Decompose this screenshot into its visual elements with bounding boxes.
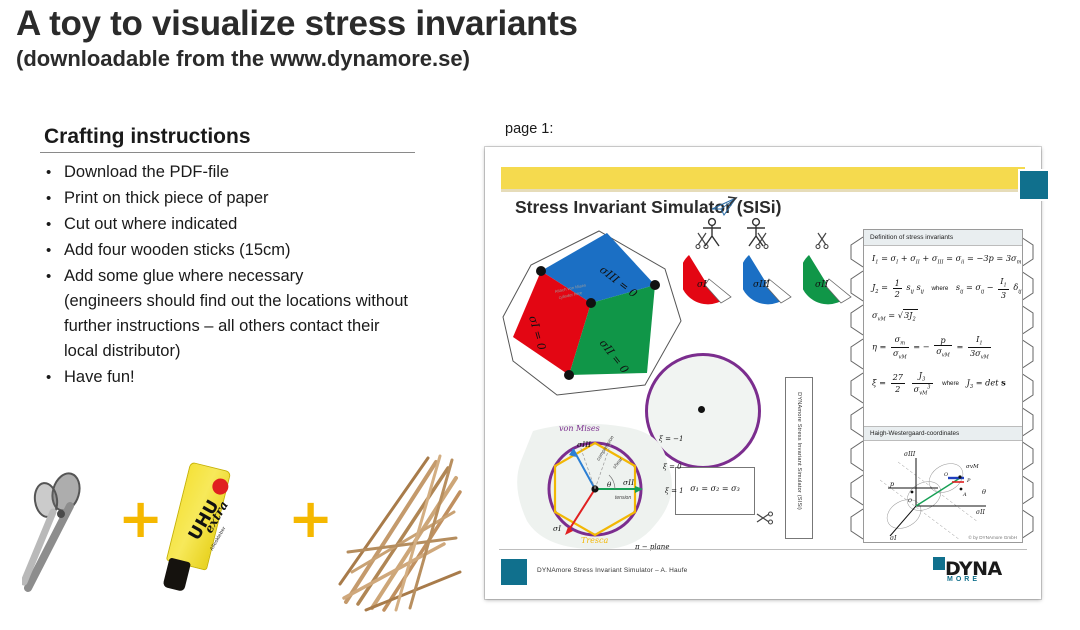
scissors-cut-icon xyxy=(815,231,829,249)
page-title: A toy to visualize stress invariants xyxy=(16,4,578,44)
von-mises-label: von Mises xyxy=(559,424,600,433)
pacman-label-blue: σ​III xyxy=(753,280,770,290)
cut-tabs-right xyxy=(1021,231,1039,541)
svg-text:O: O xyxy=(944,472,948,478)
logo-sub: MORE xyxy=(947,576,980,583)
bullet-continuation-line: (engineers should find out the locations… xyxy=(64,289,472,314)
where-label-2: where xyxy=(937,380,964,387)
plus-sign-2: + xyxy=(288,492,333,546)
document-title: Stress Invariant Simulator (SISi) xyxy=(515,197,781,218)
formula-i1: I1 = σI + σII + σIII = σii = −3p = 3σm xyxy=(872,252,1014,267)
axis-label-sigma3: σ​III xyxy=(577,440,592,449)
scissors-icon xyxy=(22,466,108,596)
haigh-westergaard-header: Haigh-Westergaard-coordinates xyxy=(864,426,1022,441)
list-item: Add four wooden sticks (15cm) xyxy=(42,238,472,263)
panel-copyright: © by DYNAmore GmbH xyxy=(968,535,1017,540)
stick-figure-icon xyxy=(699,217,725,247)
formula-svm: σvM = √3J2 xyxy=(872,309,1014,324)
xi-label-neg1: ξ = −1 xyxy=(659,435,684,443)
page-subtitle: (downloadable from the www.dynamore.se) xyxy=(16,46,470,72)
formula-panel-header: Definition of stress invariants xyxy=(864,230,1022,246)
heading-divider xyxy=(40,152,415,153)
tension-label: tension xyxy=(615,495,631,501)
vertical-title-strip: DYNAmore Stress Invariant Simulator (SIS… xyxy=(785,377,813,539)
svg-text:p: p xyxy=(890,480,895,488)
bullet-text: Download the PDF-file xyxy=(64,163,229,181)
banner-shadow xyxy=(501,189,1025,192)
svg-text:O: O xyxy=(908,498,912,504)
stick-figure-icon xyxy=(743,217,769,247)
formula-eta: η = σmσvM = − pσvM = I13σvM xyxy=(872,334,1014,361)
bullet-text: Have fun! xyxy=(64,368,135,386)
plus-sign-1: + xyxy=(118,492,163,546)
svg-text:σIII: σIII xyxy=(904,451,916,458)
glue-cap xyxy=(162,557,191,591)
svg-text:σI: σI xyxy=(890,535,897,540)
paper-plane-icon xyxy=(710,195,740,217)
list-item: Have fun! xyxy=(42,365,472,390)
svg-text:θ: θ xyxy=(982,488,986,496)
bullet-text: Add four wooden sticks (15cm) xyxy=(64,241,291,259)
wooden-sticks xyxy=(336,452,462,612)
footer-teal-square xyxy=(501,559,527,585)
svg-text:σII: σII xyxy=(976,509,985,516)
pi-plane-figure: von Mises Tresca σ​III σ​II σ​I θ compre… xyxy=(503,417,703,557)
bullet-text: Print on thick piece of paper xyxy=(64,189,269,207)
logo-mark xyxy=(933,557,945,570)
haigh-westergaard-diagram: σIII σII σI σvM p θ O P A O xyxy=(868,444,1018,540)
svg-text:σvM: σvM xyxy=(966,464,979,470)
bullet-text: Add some glue where necessary xyxy=(64,267,303,285)
slide-root: A toy to visualize stress invariants (do… xyxy=(0,0,1080,630)
bullet-text: Cut out where indicated xyxy=(64,215,237,233)
disc-center-dot xyxy=(698,406,705,413)
formula-panel: Definition of stress invariants I1 = σI … xyxy=(863,229,1023,543)
supplies-row: + UHU extra Alleskleber + xyxy=(18,450,458,625)
pacman-label-green: σ​II xyxy=(815,280,829,290)
glue-body: UHU extra Alleskleber xyxy=(166,462,231,571)
footer-divider xyxy=(499,549,1027,550)
bullet-continuation-line: local distributor) xyxy=(64,339,472,364)
where-label: where xyxy=(926,285,953,292)
dynamore-logo: DYNA MORE xyxy=(931,556,1027,586)
formula-xi: ξ = 272 J3σvM3 where J3 = det s xyxy=(872,370,1014,397)
svg-text:P: P xyxy=(966,478,971,484)
xi-label-1: ξ = 1 xyxy=(665,487,684,495)
list-item: Cut out where indicated xyxy=(42,212,472,237)
pacman-blue: σ​III xyxy=(743,251,799,309)
formula-j2: J2 = 12 sij sij where sij = σij − I13 δi… xyxy=(872,276,1014,300)
vertical-strip-label: DYNAmore Stress Invariant Simulator (SIS… xyxy=(796,371,802,531)
axis-label-sigma1: σ​I xyxy=(553,524,562,533)
pacman-label-red: σ​I xyxy=(697,280,707,290)
footer-text: DYNAmore Stress Invariant Simulator – A.… xyxy=(537,567,687,574)
list-item: Print on thick piece of paper xyxy=(42,186,472,211)
svg-text:A: A xyxy=(962,492,967,498)
formula-list: I1 = σI + σII + σIII = σii = −3p = 3σm J… xyxy=(872,252,1014,406)
instructions-list: Download the PDF-file Print on thick pie… xyxy=(42,160,472,391)
scissors-cut-icon xyxy=(755,511,773,525)
yellow-banner xyxy=(501,167,1025,189)
pacman-red: σ​I xyxy=(683,251,739,309)
list-item: Download the PDF-file xyxy=(42,160,472,185)
page-label: page 1: xyxy=(505,121,553,137)
crafting-instructions-heading: Crafting instructions xyxy=(44,125,251,149)
cut-tabs-left xyxy=(845,231,863,541)
tresca-label: Tresca xyxy=(581,536,608,545)
teal-square xyxy=(1018,169,1050,201)
axis-label-sigma2: σ​II xyxy=(623,478,635,487)
document-preview[interactable]: Stress Invariant Simulator (SISi) σ​III … xyxy=(485,147,1041,599)
bullet-continuation-line: further instructions – all others contac… xyxy=(64,314,472,339)
list-item: Add some glue where necessary (engineers… xyxy=(42,264,472,364)
xi-label-0: ξ = 0 xyxy=(663,463,682,471)
